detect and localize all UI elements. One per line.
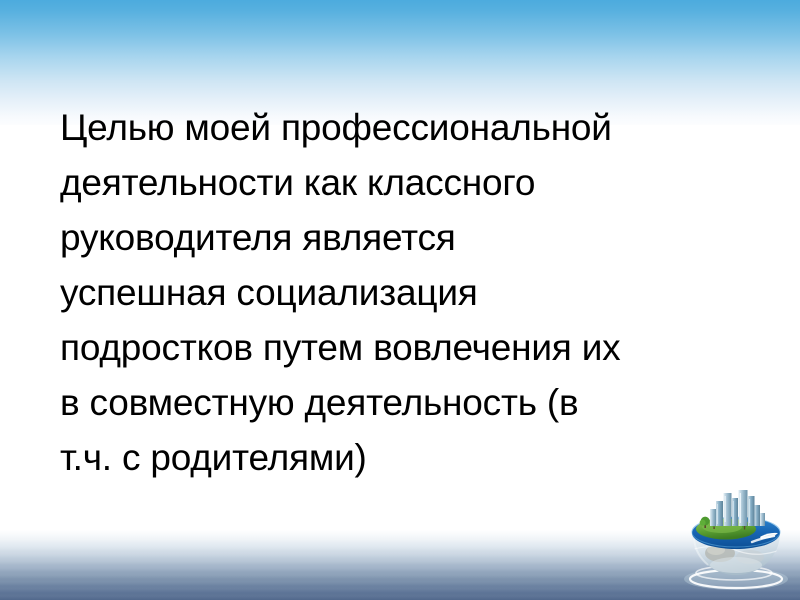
city-skyline <box>710 490 765 526</box>
eco-globe-city-icon <box>676 487 796 595</box>
body-text-line: руководителя является <box>60 210 757 265</box>
body-text-line: подростков путем вовлечения их <box>60 320 757 375</box>
body-text-line: Целью моей профессиональной <box>60 100 757 155</box>
body-text-line: деятельности как классного <box>60 155 757 210</box>
body-text-line: в совместную деятельность (в <box>60 375 757 430</box>
body-text-line: т.ч. с родителями) <box>60 430 757 485</box>
presentation-slide: Целью моей профессиональной деятельности… <box>0 0 800 600</box>
slide-body-text: Целью моей профессиональной деятельности… <box>60 100 757 485</box>
body-text-line: успешная социализация <box>60 265 757 320</box>
